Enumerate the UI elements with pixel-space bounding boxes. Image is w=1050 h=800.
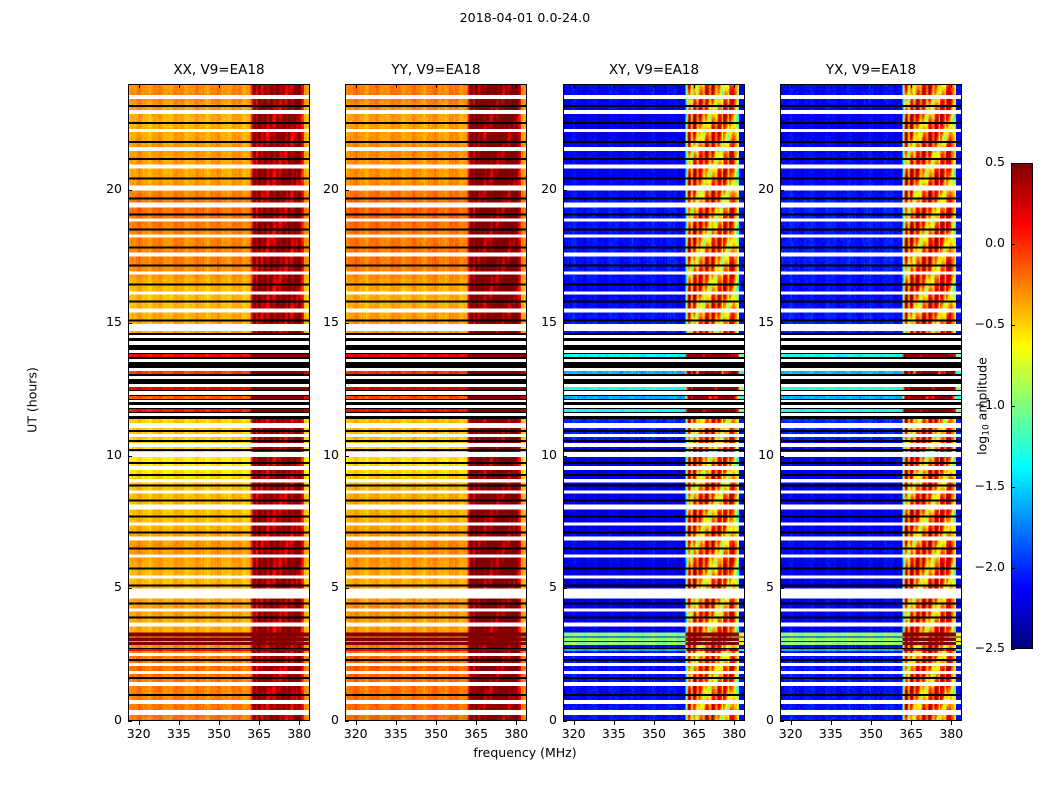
- y-tickmark: [128, 721, 132, 722]
- colorbar-tick-label: −2.5: [945, 640, 1005, 655]
- x-tick-label: 380: [712, 726, 756, 741]
- y-tickmark: [780, 456, 784, 457]
- x-tick-label: 365: [237, 726, 281, 741]
- x-tickmark: [179, 84, 180, 88]
- colorbar-tickmark: [1011, 568, 1015, 569]
- x-tickmark: [476, 84, 477, 88]
- x-tickmark: [259, 84, 260, 88]
- x-tickmark: [139, 721, 140, 725]
- y-tick-label: 15: [299, 314, 339, 329]
- x-tickmark: [791, 721, 792, 725]
- x-tickmark: [436, 84, 437, 88]
- x-tick-label: 335: [809, 726, 853, 741]
- y-tick-label: 5: [299, 579, 339, 594]
- x-tickmark: [356, 84, 357, 88]
- y-tick-label: 15: [734, 314, 774, 329]
- x-tickmark: [951, 721, 952, 725]
- colorbar-label: log10 amplitude: [975, 357, 990, 455]
- x-axis-label: frequency (MHz): [0, 745, 1050, 760]
- x-tickmark: [791, 84, 792, 88]
- heatmap-panel-xy[interactable]: [563, 84, 745, 721]
- y-tickmark: [345, 323, 349, 324]
- x-tick-label: 365: [672, 726, 716, 741]
- y-tick-label: 15: [517, 314, 557, 329]
- x-tickmark: [356, 721, 357, 725]
- y-tick-label: 0: [517, 712, 557, 727]
- x-tick-label: 335: [374, 726, 418, 741]
- x-tickmark: [654, 721, 655, 725]
- y-tickmark: [128, 323, 132, 324]
- x-tickmark: [574, 84, 575, 88]
- y-tickmark: [345, 456, 349, 457]
- x-tick-label: 320: [769, 726, 813, 741]
- waterfall-image-xx: [129, 85, 309, 720]
- y-tick-label: 5: [517, 579, 557, 594]
- colorbar-tickmark: [1011, 406, 1015, 407]
- waterfall-image-yx: [781, 85, 961, 720]
- figure-canvas: 2018-04-01 0.0-24.0 XX, V9=EA18 YY, V9=E…: [0, 0, 1050, 800]
- y-tick-label: 20: [299, 181, 339, 196]
- x-tickmark: [734, 84, 735, 88]
- x-tickmark: [574, 721, 575, 725]
- y-tick-label: 0: [734, 712, 774, 727]
- x-tick-label: 350: [849, 726, 893, 741]
- y-tickmark: [128, 190, 132, 191]
- x-tick-label: 380: [929, 726, 973, 741]
- panel-title-xx: XX, V9=EA18: [128, 62, 310, 78]
- x-tickmark: [911, 84, 912, 88]
- y-tick-label: 10: [734, 447, 774, 462]
- colorbar-tickmark: [1011, 244, 1015, 245]
- x-tickmark: [219, 721, 220, 725]
- colorbar-tick-label: −1.5: [945, 478, 1005, 493]
- y-tick-label: 0: [82, 712, 122, 727]
- x-tick-label: 380: [494, 726, 538, 741]
- x-tickmark: [139, 84, 140, 88]
- x-tickmark: [831, 721, 832, 725]
- x-tickmark: [396, 721, 397, 725]
- x-tick-label: 350: [414, 726, 458, 741]
- x-tickmark: [911, 721, 912, 725]
- x-tickmark: [654, 84, 655, 88]
- figure-suptitle: 2018-04-01 0.0-24.0: [0, 10, 1050, 25]
- y-axis-label: UT (hours): [25, 367, 40, 433]
- y-tickmark: [780, 190, 784, 191]
- x-tickmark: [396, 84, 397, 88]
- y-tick-label: 0: [299, 712, 339, 727]
- x-tickmark: [871, 721, 872, 725]
- y-tick-label: 10: [299, 447, 339, 462]
- colorbar-tick-label: 0.5: [945, 154, 1005, 169]
- y-tick-label: 10: [517, 447, 557, 462]
- x-tickmark: [951, 84, 952, 88]
- y-tick-label: 5: [734, 579, 774, 594]
- y-tickmark: [563, 588, 567, 589]
- y-tickmark: [563, 190, 567, 191]
- y-tickmark: [345, 588, 349, 589]
- y-tick-label: 20: [82, 181, 122, 196]
- y-tickmark: [780, 588, 784, 589]
- waterfall-image-yy: [346, 85, 526, 720]
- y-tick-label: 20: [517, 181, 557, 196]
- x-tickmark: [831, 84, 832, 88]
- x-tickmark: [694, 721, 695, 725]
- x-tickmark: [436, 721, 437, 725]
- heatmap-panel-yy[interactable]: [345, 84, 527, 721]
- y-tickmark: [563, 721, 567, 722]
- y-tickmark: [128, 456, 132, 457]
- colorbar-label-main: log: [975, 436, 990, 455]
- colorbar-tick-label: −0.5: [945, 316, 1005, 331]
- heatmap-panel-yx[interactable]: [780, 84, 962, 721]
- y-tickmark: [780, 323, 784, 324]
- y-tickmark: [345, 721, 349, 722]
- y-tickmark: [780, 721, 784, 722]
- colorbar-tickmark: [1011, 649, 1015, 650]
- panel-title-yy: YY, V9=EA18: [345, 62, 527, 78]
- x-tickmark: [614, 84, 615, 88]
- colorbar-tick-label: −2.0: [945, 559, 1005, 574]
- x-tick-label: 320: [552, 726, 596, 741]
- x-tickmark: [179, 721, 180, 725]
- colorbar-label-tail: amplitude: [975, 357, 990, 424]
- waterfall-image-xy: [564, 85, 744, 720]
- panel-title-xy: XY, V9=EA18: [563, 62, 745, 78]
- x-tickmark: [299, 84, 300, 88]
- y-tick-label: 20: [734, 181, 774, 196]
- y-tick-label: 10: [82, 447, 122, 462]
- y-tickmark: [563, 456, 567, 457]
- y-tickmark: [128, 588, 132, 589]
- x-tickmark: [614, 721, 615, 725]
- heatmap-panel-xx[interactable]: [128, 84, 310, 721]
- x-tick-label: 335: [157, 726, 201, 741]
- x-tickmark: [219, 84, 220, 88]
- x-tickmark: [694, 84, 695, 88]
- x-tick-label: 365: [454, 726, 498, 741]
- x-tick-label: 380: [277, 726, 321, 741]
- x-tick-label: 350: [197, 726, 241, 741]
- x-tick-label: 320: [334, 726, 378, 741]
- colorbar-tickmark: [1011, 487, 1015, 488]
- colorbar-tickmark: [1011, 325, 1015, 326]
- x-tick-label: 350: [632, 726, 676, 741]
- x-tickmark: [259, 721, 260, 725]
- y-tick-label: 15: [82, 314, 122, 329]
- y-tick-label: 5: [82, 579, 122, 594]
- panel-title-yx: YX, V9=EA18: [780, 62, 962, 78]
- colorbar-label-sub: 10: [982, 424, 992, 435]
- x-tick-label: 335: [592, 726, 636, 741]
- x-tickmark: [516, 84, 517, 88]
- y-tickmark: [345, 190, 349, 191]
- x-tick-label: 365: [889, 726, 933, 741]
- y-tickmark: [563, 323, 567, 324]
- x-tick-label: 320: [117, 726, 161, 741]
- x-tickmark: [871, 84, 872, 88]
- colorbar-tick-label: 0.0: [945, 235, 1005, 250]
- colorbar-tickmark: [1011, 163, 1015, 164]
- x-tickmark: [476, 721, 477, 725]
